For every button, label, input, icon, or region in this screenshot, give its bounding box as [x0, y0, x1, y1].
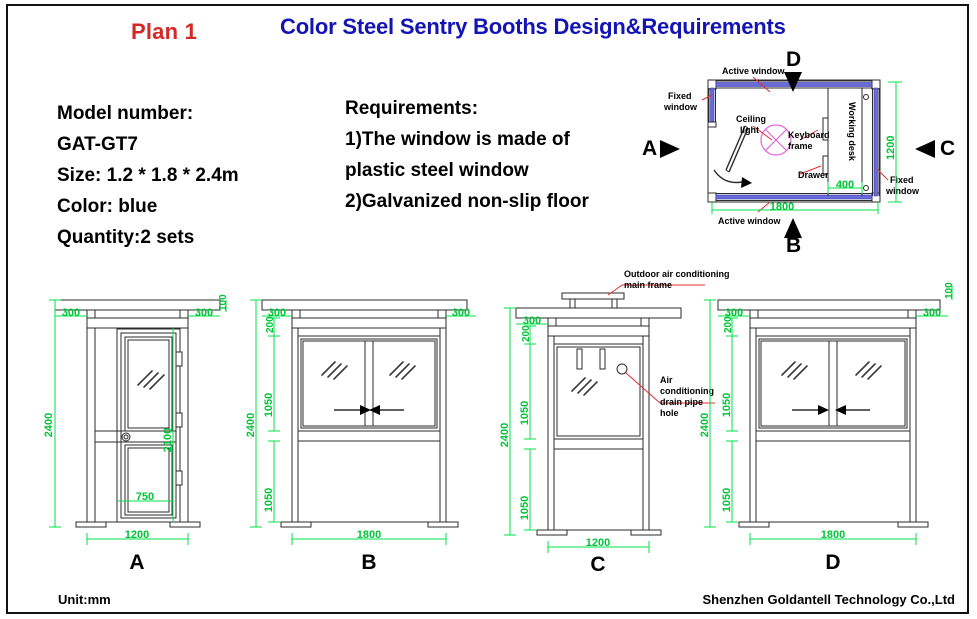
- note-drawer: Drawer: [798, 170, 829, 180]
- note-keyboard-frame-line2: frame: [788, 141, 813, 151]
- view-marker-a-arrow: [660, 140, 680, 158]
- elevation-a-label: A: [129, 551, 144, 574]
- elevation-c-label: C: [590, 553, 605, 576]
- unit-note: Unit:mm: [58, 592, 111, 607]
- note-ceiling-light-line1: Ceiling: [736, 114, 766, 124]
- view-marker-d-label: D: [786, 48, 801, 71]
- note-fixed-window-right-line1: Fixed: [890, 175, 914, 185]
- spec-size: Size: 1.2 * 1.8 * 2.4m: [57, 160, 239, 191]
- drawing-sheet: Plan 1 Color Steel Sentry Booths Design&…: [0, 0, 977, 619]
- note-drain-line3: drain pipe: [660, 397, 703, 407]
- dim-d-roof-thickness: 100: [944, 282, 955, 299]
- requirement-item-1-cont: plastic steel window: [345, 155, 589, 186]
- dim-d-sill-height: 1050: [721, 488, 733, 512]
- elevation-d-view: 2400 300 300 100 200 1050 1050 1800 D: [700, 285, 965, 575]
- elevation-a-view: 2400 300 300 100 2100 750 1200 A: [30, 285, 250, 575]
- dim-c-height: 2400: [499, 423, 511, 447]
- note-fixed-window-right-line2: window: [885, 186, 920, 196]
- dim-d-eave-right: 300: [923, 307, 941, 319]
- dim-d-width: 1800: [821, 529, 845, 541]
- page-title: Color Steel Sentry Booths Design&Require…: [280, 14, 786, 40]
- note-outdoor-ac-line2: main frame: [624, 280, 672, 290]
- note-fixed-window-left-line2: window: [663, 102, 698, 112]
- dim-b-width: 1800: [357, 529, 381, 541]
- elevation-d-label: D: [825, 551, 840, 574]
- note-outdoor-ac-line1: Outdoor air conditioning: [624, 269, 730, 279]
- note-fixed-window-left-line1: Fixed: [668, 91, 692, 101]
- company-name: Shenzhen Goldantell Technology Co.,Ltd: [702, 592, 955, 607]
- specification-block: Model number: GAT-GT7 Size: 1.2 * 1.8 * …: [57, 98, 239, 253]
- dim-c-header: 200: [521, 325, 532, 342]
- dim-a-width: 1200: [125, 529, 149, 541]
- requirement-item-2: 2)Galvanized non-slip floor: [345, 186, 589, 217]
- dim-plan-width: 1800: [770, 201, 794, 213]
- dim-b-window-height: 1050: [263, 393, 275, 417]
- requirements-block: Requirements: 1)The window is made of pl…: [345, 93, 589, 217]
- requirement-item-1: 1)The window is made of: [345, 124, 589, 155]
- view-marker-c-arrow: [915, 140, 935, 158]
- view-marker-c-label: C: [940, 137, 955, 160]
- dim-a-door-height: 2100: [162, 428, 174, 452]
- note-drain-line1: Air: [660, 375, 673, 385]
- dim-b-header: 200: [265, 316, 276, 333]
- elevation-b-view: 2400 300 300 200 1050 1050 1800 B: [250, 285, 495, 575]
- spec-model-value: GAT-GT7: [57, 129, 239, 160]
- dim-a-height: 2400: [43, 413, 55, 437]
- view-marker-b-arrow: [784, 218, 802, 238]
- view-marker-a-label: A: [642, 137, 657, 160]
- dim-c-window-height: 1050: [519, 401, 531, 425]
- elevation-b-label: B: [361, 551, 376, 574]
- dim-b-eave-right: 300: [452, 307, 470, 319]
- requirements-heading: Requirements:: [345, 93, 589, 124]
- spec-quantity: Quantity:2 sets: [57, 222, 239, 253]
- dim-c-eave-left: 300: [523, 315, 541, 327]
- note-active-window-bottom: Active window: [718, 216, 782, 226]
- spec-model-label: Model number:: [57, 98, 239, 129]
- dim-b-sill-height: 1050: [263, 488, 275, 512]
- dim-d-height: 2400: [699, 413, 711, 437]
- dim-a-roof-thickness: 100: [218, 294, 229, 311]
- dim-c-width: 1200: [586, 537, 610, 549]
- plan-badge: Plan 1: [131, 19, 197, 45]
- dim-a-eave-left: 300: [62, 307, 80, 319]
- dim-plan-depth: 1200: [885, 136, 897, 160]
- dim-c-sill-height: 1050: [519, 496, 531, 520]
- note-keyboard-frame-line1: Keyboard: [788, 130, 830, 140]
- dim-d-header: 200: [723, 316, 734, 333]
- note-active-window-top: Active window: [722, 66, 786, 76]
- dim-a-door-width: 750: [136, 491, 154, 503]
- note-ceiling-light-line2: light: [740, 125, 759, 135]
- note-working-desk: Working desk: [847, 102, 857, 162]
- spec-color: Color: blue: [57, 191, 239, 222]
- dim-b-height: 2400: [245, 413, 257, 437]
- dim-d-window-height: 1050: [721, 393, 733, 417]
- dim-desk-depth: 400: [836, 179, 854, 191]
- dim-a-eave-right: 300: [195, 307, 213, 319]
- note-drain-line4: hole: [660, 408, 679, 418]
- floor-plan-view: Active window Fixed window Ceiling light…: [650, 52, 970, 252]
